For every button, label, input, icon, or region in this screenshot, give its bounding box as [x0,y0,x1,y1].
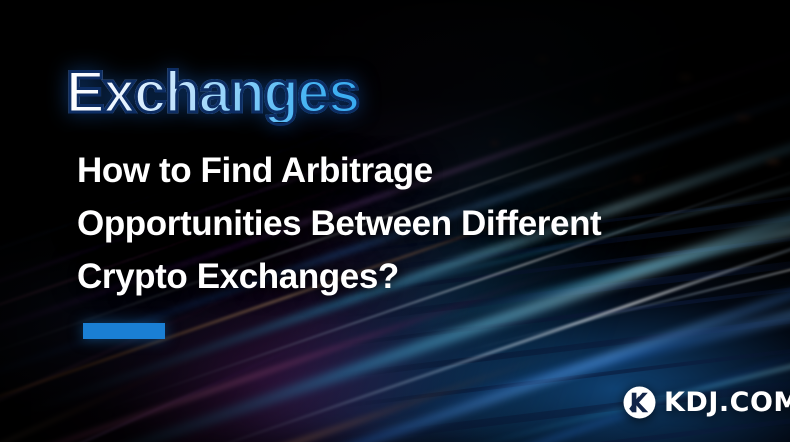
logo-wordmark: KDJ.COM [664,389,790,416]
headline-line-3: Crypto Exchanges? [77,250,717,303]
accent-bar [83,323,165,339]
category-title: Exchanges [66,64,359,122]
banner-content: Exchanges How to Find Arbitrage Opportun… [0,0,790,442]
kdj-k-monogram-icon [623,386,656,419]
headline-line-2: Opportunities Between Different [77,197,717,250]
site-logo[interactable]: KDJ.COM [623,386,790,419]
article-banner: Exchanges How to Find Arbitrage Opportun… [0,0,790,442]
headline-line-1: How to Find Arbitrage [77,144,717,197]
headline: How to Find Arbitrage Opportunities Betw… [77,144,717,303]
